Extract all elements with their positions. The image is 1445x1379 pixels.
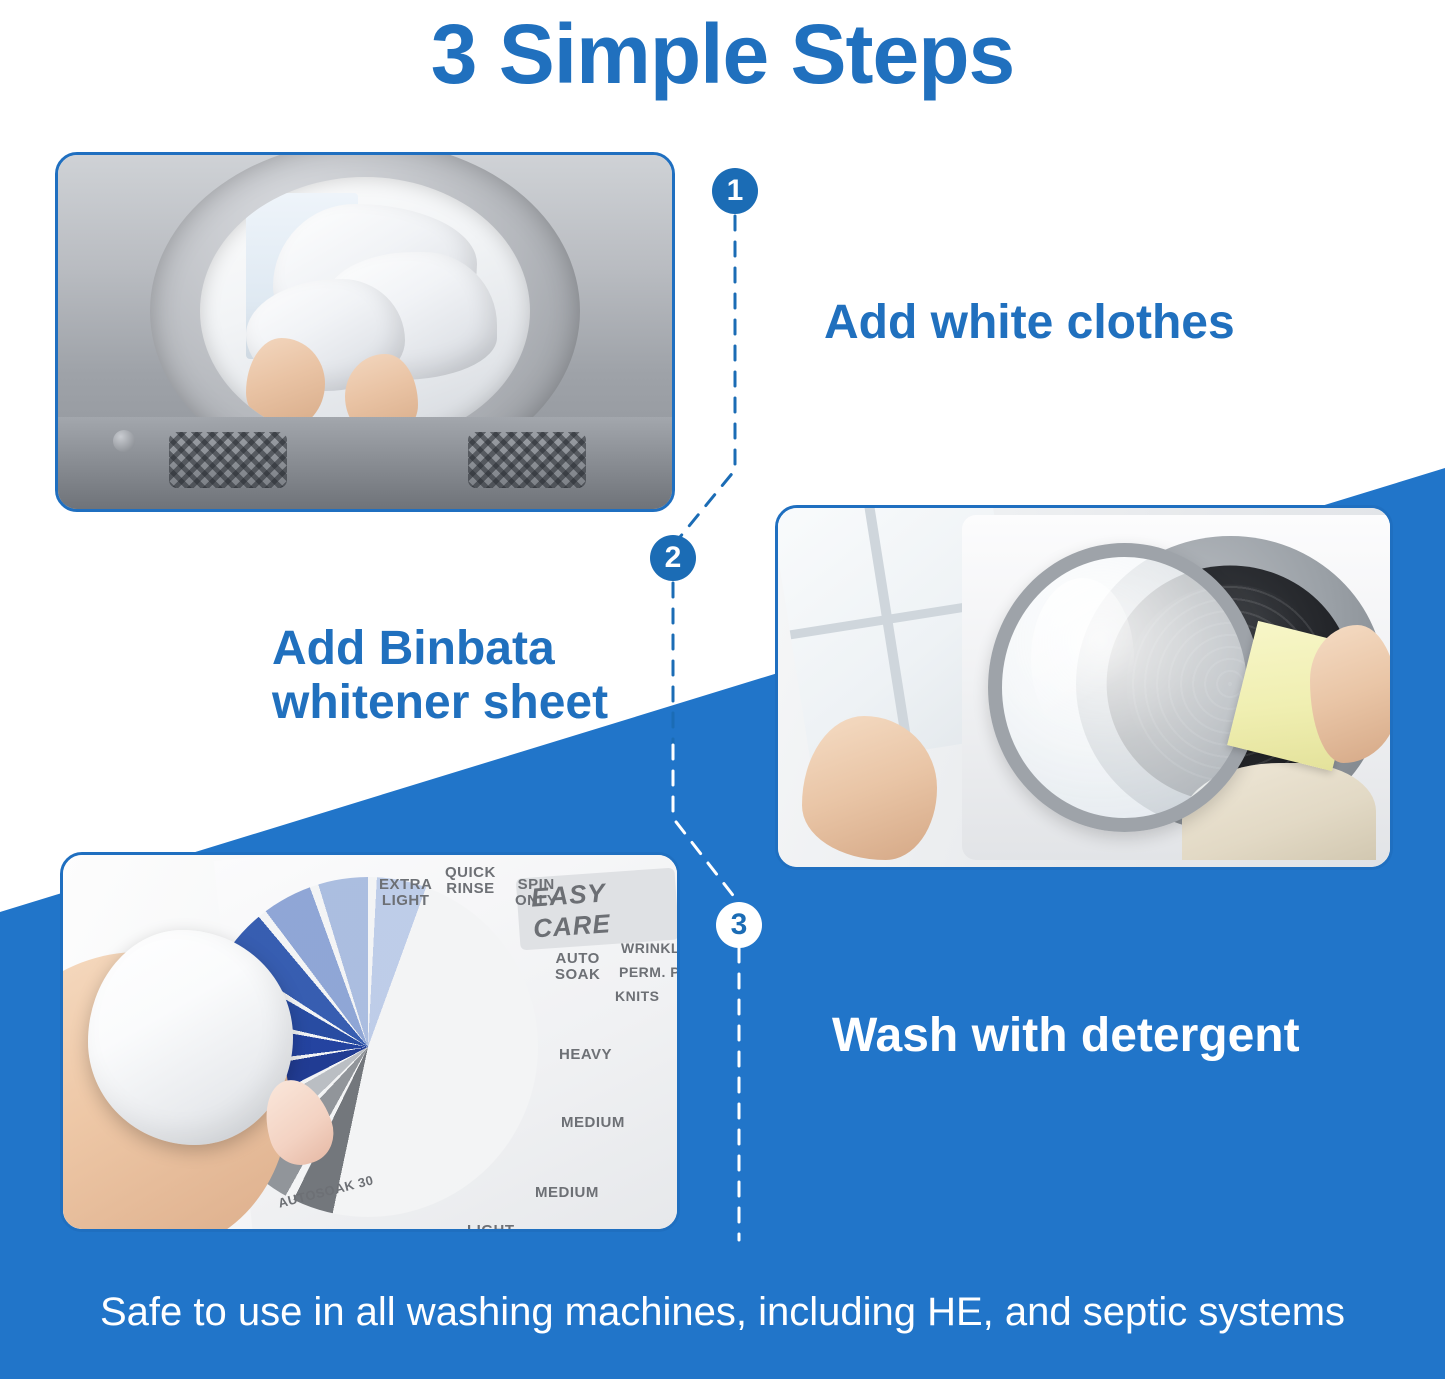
- dial-label-perm-press: PERM. PRESS: [619, 965, 677, 980]
- step-1-caption: Add white clothes: [824, 295, 1235, 350]
- step-1-photo-content: [58, 155, 672, 509]
- step-1-photo: [55, 152, 675, 512]
- step-2-caption: Add Binbata whitener sheet: [272, 622, 692, 730]
- footer-note: Safe to use in all washing machines, inc…: [0, 1290, 1445, 1335]
- dial-label-wrinkle-free: WRINKLE FREE: [621, 941, 677, 956]
- dial-label-auto-soak: AUTOSOAK: [555, 951, 600, 983]
- step-badge-3: 3: [716, 902, 762, 948]
- washing-machine-body: [962, 515, 1390, 860]
- infographic-canvas: 3 Simple Steps: [0, 0, 1445, 1379]
- step-2-photo: [775, 505, 1393, 870]
- dial-label-knits: KNITS: [615, 989, 660, 1004]
- washer-door-open: [988, 543, 1261, 832]
- step-3-photo-content: EASY CARE EXTRALIGHT QUICKRINSE SPINONLY…: [63, 855, 677, 1229]
- dial-label-medium-2: MEDIUM: [535, 1185, 599, 1201]
- step-3-photo: EASY CARE EXTRALIGHT QUICKRINSE SPINONLY…: [60, 852, 680, 1232]
- step-2-caption-line1: Add Binbata: [272, 622, 555, 675]
- dial-knob: [88, 930, 293, 1145]
- vent-grille: [468, 432, 586, 488]
- step-badge-1: 1: [712, 168, 758, 214]
- dial-label-heavy: HEAVY: [559, 1047, 612, 1063]
- vent-grille: [169, 432, 287, 488]
- hand-holding-sheet: [1310, 625, 1390, 763]
- step-2-photo-content: [778, 508, 1390, 867]
- step-3-caption: Wash with detergent: [832, 1008, 1300, 1063]
- dial-label-light: LIGHT: [467, 1223, 515, 1229]
- hand-on-door: [802, 716, 937, 860]
- dial-label-quick-rinse: QUICKRINSE: [445, 865, 496, 897]
- connector-1-to-2: [680, 216, 735, 537]
- dial-label-medium-1: MEDIUM: [561, 1115, 625, 1131]
- drum-opening: [200, 177, 530, 445]
- step-badge-2: 2: [650, 535, 696, 581]
- dial-label-extra-light: EXTRALIGHT: [379, 877, 432, 909]
- step-2-caption-line2: whitener sheet: [272, 676, 608, 729]
- page-title: 3 Simple Steps: [0, 6, 1445, 103]
- dial-label-spin-only: SPINONLY: [515, 877, 557, 909]
